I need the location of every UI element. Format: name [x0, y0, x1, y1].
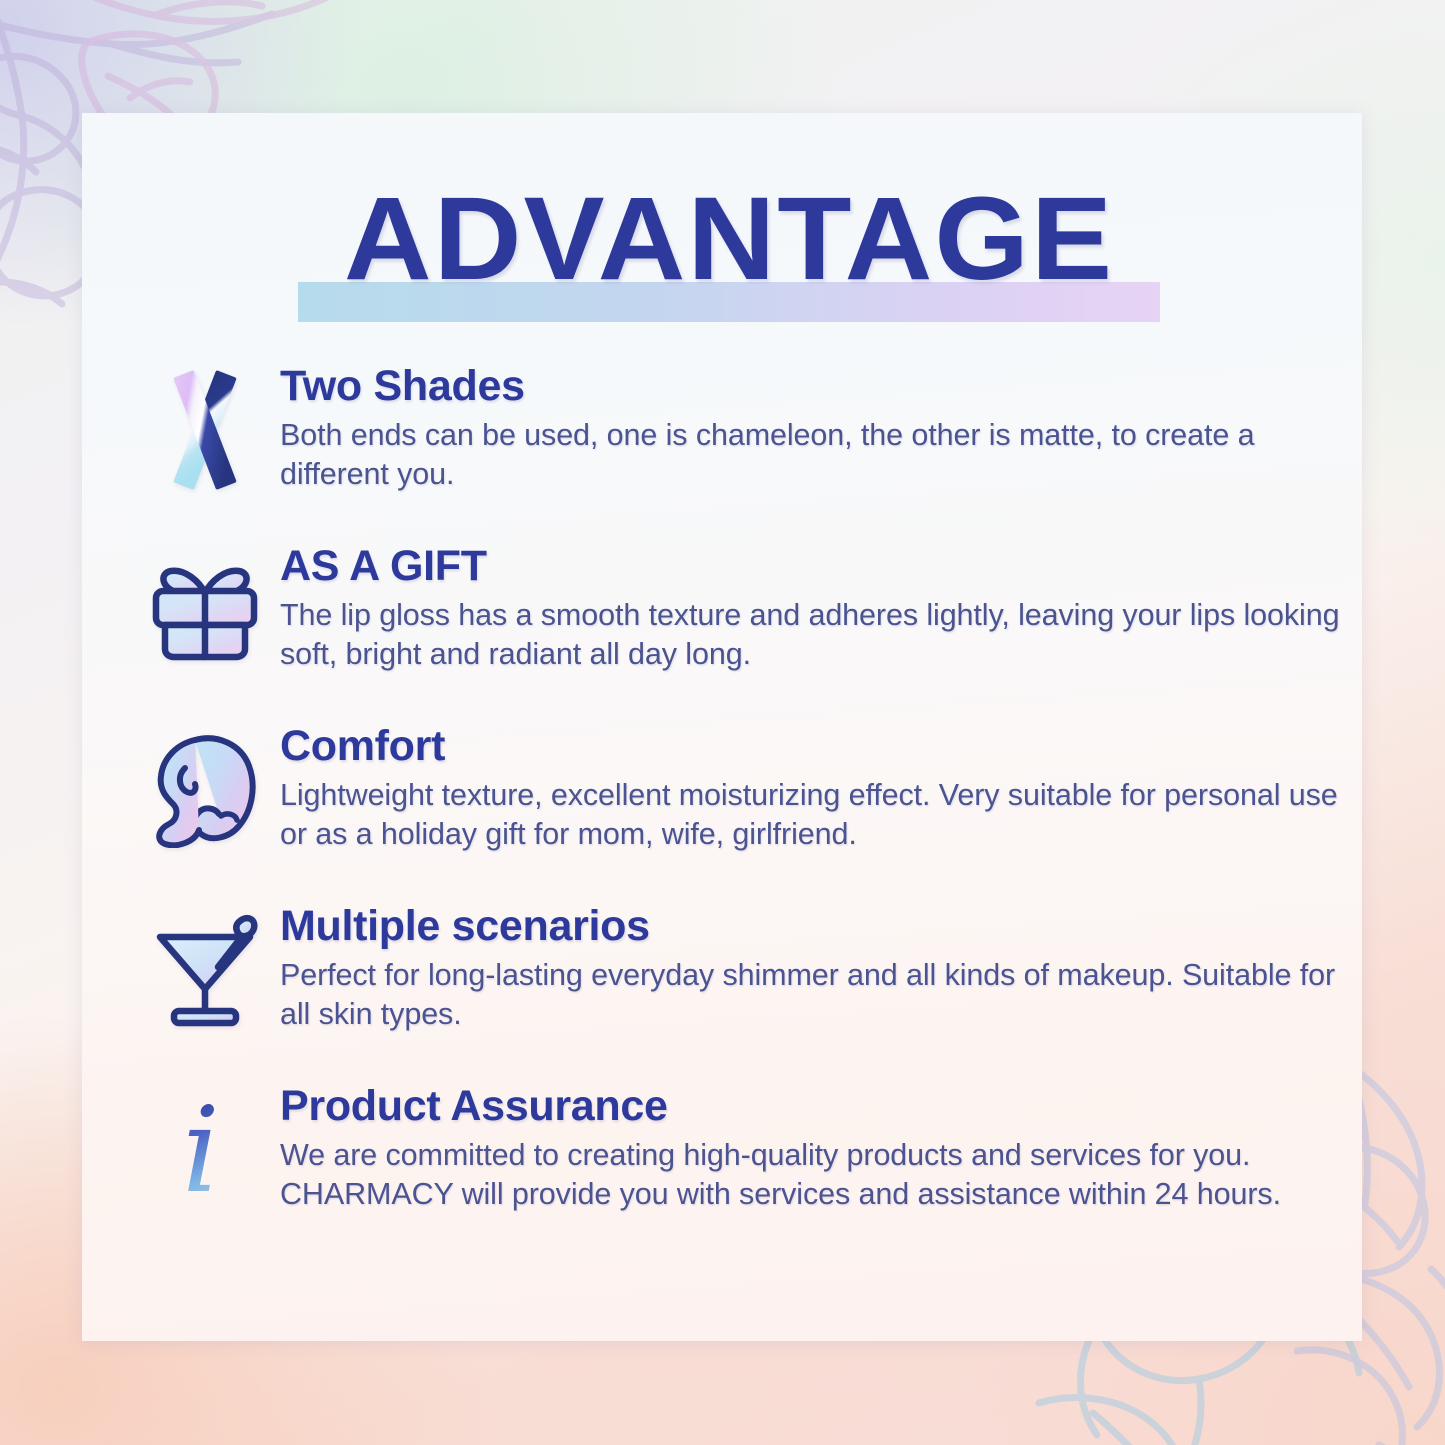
advantage-infographic: ADVANTAGE [0, 0, 1445, 1445]
feature-text-block: Two Shades Both ends can be used, one is… [280, 361, 1365, 495]
content-card: ADVANTAGE [82, 113, 1362, 1341]
title-text: ADVANTAGE [285, 180, 1173, 298]
feature-item-product-assurance: i Product Assurance We are committed to … [130, 1081, 1365, 1223]
info-letter-i-icon: i [130, 1081, 280, 1213]
feature-title: Two Shades [280, 363, 1365, 409]
cocktail-glass-icon [130, 901, 280, 1033]
gift-box-icon [130, 541, 280, 673]
feature-list: Two Shades Both ends can be used, one is… [130, 361, 1365, 1223]
feature-title: AS A GIFT [280, 543, 1365, 589]
woman-face-profile-icon [130, 721, 280, 853]
feature-description: The lip gloss has a smooth texture and a… [280, 596, 1365, 674]
feature-description: Perfect for long-lasting everyday shimme… [280, 956, 1365, 1034]
feature-description: We are committed to creating high-qualit… [280, 1136, 1365, 1214]
feature-item-two-shades: Two Shades Both ends can be used, one is… [130, 361, 1365, 503]
feature-title: Multiple scenarios [280, 903, 1365, 949]
feature-text-block: AS A GIFT The lip gloss has a smooth tex… [280, 541, 1365, 675]
feature-title: Comfort [280, 723, 1365, 769]
feature-text-block: Product Assurance We are committed to cr… [280, 1081, 1365, 1215]
crossed-lip-wands-icon [130, 361, 280, 493]
feature-text-block: Comfort Lightweight texture, excellent m… [280, 721, 1365, 855]
feature-item-multiple-scenarios: Multiple scenarios Perfect for long-last… [130, 901, 1365, 1043]
feature-description: Both ends can be used, one is chameleon,… [280, 416, 1365, 494]
feature-text-block: Multiple scenarios Perfect for long-last… [280, 901, 1365, 1035]
info-i-glyph: i [182, 1091, 228, 1209]
feature-title: Product Assurance [280, 1083, 1365, 1129]
page-title: ADVANTAGE [298, 186, 1168, 322]
feature-description: Lightweight texture, excellent moisturiz… [280, 776, 1365, 854]
feature-item-as-a-gift: AS A GIFT The lip gloss has a smooth tex… [130, 541, 1365, 683]
feature-item-comfort: Comfort Lightweight texture, excellent m… [130, 721, 1365, 863]
